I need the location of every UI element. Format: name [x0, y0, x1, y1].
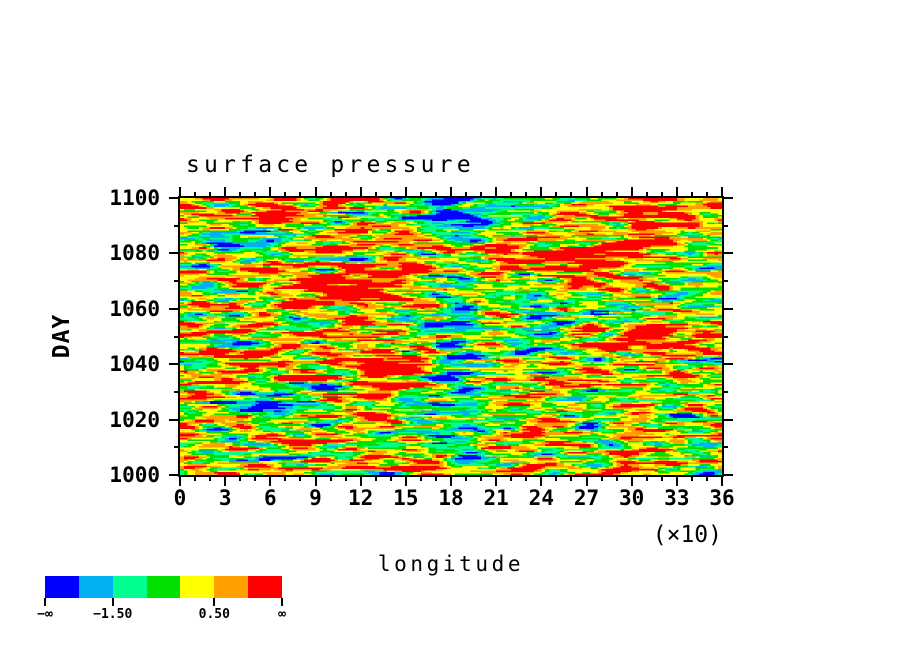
y-axis-minor-tick	[722, 446, 728, 448]
x-axis-tick	[631, 475, 633, 486]
x-axis-minor-tick	[299, 192, 301, 198]
colorbar-tick	[281, 598, 283, 606]
x-axis-minor-tick	[646, 475, 648, 481]
x-axis-minor-tick	[254, 192, 256, 198]
colorbar-tick-label: −1.50	[93, 607, 132, 622]
y-axis-minor-tick	[174, 225, 180, 227]
x-axis-minor-tick	[375, 192, 377, 198]
x-axis-tick	[676, 187, 678, 198]
x-axis-minor-tick	[691, 192, 693, 198]
x-tick-label: 33	[664, 486, 689, 510]
x-axis-minor-tick	[661, 192, 663, 198]
x-axis-minor-tick	[345, 475, 347, 481]
colorbar-band	[113, 576, 147, 598]
colorbar-tick-label: −∞	[37, 607, 53, 622]
figure-canvas: surface pressure 0369121518212427303336 …	[0, 0, 904, 654]
y-axis-tick	[169, 363, 180, 365]
x-tick-label: 27	[574, 486, 599, 510]
y-axis-tick	[169, 474, 180, 476]
x-axis-tick	[360, 187, 362, 198]
colorbar: −∞−1.500.50∞	[45, 576, 282, 598]
x-axis-minor-tick	[706, 475, 708, 481]
x-tick-label: 24	[529, 486, 554, 510]
heatmap-image	[180, 198, 722, 475]
x-axis-minor-tick	[284, 475, 286, 481]
y-axis-tick	[722, 474, 733, 476]
x-axis-tick	[450, 475, 452, 486]
x-axis-minor-tick	[706, 192, 708, 198]
y-tick-label: 1040	[109, 352, 160, 376]
x-axis-minor-tick	[661, 475, 663, 481]
x-axis-tick	[315, 187, 317, 198]
x-axis-minor-tick	[390, 192, 392, 198]
x-axis-minor-tick	[209, 192, 211, 198]
x-axis-tick	[269, 187, 271, 198]
x-axis-minor-tick	[209, 475, 211, 481]
x-axis-minor-tick	[616, 192, 618, 198]
x-axis-minor-tick	[330, 475, 332, 481]
x-axis-tick	[495, 187, 497, 198]
x-axis-minor-tick	[375, 475, 377, 481]
colorbar-tick	[44, 598, 46, 606]
x-axis-minor-tick	[525, 192, 527, 198]
colorbar-tick-label: 0.50	[199, 607, 230, 622]
y-axis-minor-tick	[722, 280, 728, 282]
x-axis-tick	[179, 475, 181, 486]
x-axis-tick	[360, 475, 362, 486]
x-tick-label: 30	[619, 486, 644, 510]
y-axis-tick	[169, 419, 180, 421]
x-axis-minor-tick	[420, 192, 422, 198]
x-axis-minor-tick	[555, 192, 557, 198]
y-axis-tick	[169, 197, 180, 199]
x-axis-minor-tick	[480, 192, 482, 198]
x-axis-minor-tick	[510, 192, 512, 198]
x-axis-tick	[721, 475, 723, 486]
x-axis-minor-tick	[601, 475, 603, 481]
y-tick-label: 1020	[109, 408, 160, 432]
x-axis-tick	[586, 475, 588, 486]
x-axis-minor-tick	[254, 475, 256, 481]
colorbar-band	[214, 576, 248, 598]
x-axis-tick	[405, 187, 407, 198]
x-axis-minor-tick	[299, 475, 301, 481]
x-axis-tick	[495, 475, 497, 486]
x-axis-tick	[676, 475, 678, 486]
y-tick-label: 1000	[109, 463, 160, 487]
x-axis-minor-tick	[646, 192, 648, 198]
plot-area: 0369121518212427303336 10001020104010601…	[180, 198, 722, 475]
y-axis-tick	[722, 363, 733, 365]
x-axis-minor-tick	[616, 475, 618, 481]
x-axis-minor-tick	[465, 475, 467, 481]
x-axis-minor-tick	[480, 475, 482, 481]
x-axis-minor-tick	[284, 192, 286, 198]
x-axis-tick	[540, 475, 542, 486]
x-axis-tick	[631, 187, 633, 198]
x-axis-title: longitude	[378, 552, 524, 576]
y-axis-minor-tick	[722, 336, 728, 338]
x-axis-minor-tick	[570, 475, 572, 481]
x-axis-tick	[450, 187, 452, 198]
colorbar-band	[45, 576, 79, 598]
x-axis-minor-tick	[570, 192, 572, 198]
colorbar-band	[180, 576, 214, 598]
x-tick-label: 9	[309, 486, 322, 510]
x-tick-label: 6	[264, 486, 277, 510]
colorbar-band	[147, 576, 181, 598]
x-axis-minor-tick	[390, 475, 392, 481]
x-tick-label: 18	[438, 486, 463, 510]
x-axis-minor-tick	[435, 192, 437, 198]
x-axis-minor-tick	[691, 475, 693, 481]
y-axis-minor-tick	[174, 391, 180, 393]
x-axis-minor-tick	[194, 475, 196, 481]
y-axis-tick	[722, 308, 733, 310]
x-axis-minor-tick	[525, 475, 527, 481]
x-axis-tick	[269, 475, 271, 486]
colorbar-tick	[112, 598, 114, 606]
x-axis-multiplier: (×10)	[653, 522, 722, 548]
y-axis-tick	[169, 308, 180, 310]
x-axis-minor-tick	[465, 192, 467, 198]
x-tick-label: 21	[484, 486, 509, 510]
y-tick-label: 1100	[109, 186, 160, 210]
colorbar-swatches	[45, 576, 282, 598]
y-axis-minor-tick	[722, 225, 728, 227]
colorbar-band	[248, 576, 282, 598]
y-axis-tick	[722, 252, 733, 254]
y-tick-label: 1080	[109, 241, 160, 265]
y-tick-label: 1060	[109, 297, 160, 321]
x-axis-tick	[540, 187, 542, 198]
y-axis-minor-tick	[722, 391, 728, 393]
y-axis-title: DAY	[49, 314, 75, 359]
x-axis-tick	[405, 475, 407, 486]
x-axis-tick	[224, 475, 226, 486]
x-axis-minor-tick	[330, 192, 332, 198]
y-axis-minor-tick	[174, 280, 180, 282]
x-axis-minor-tick	[345, 192, 347, 198]
x-axis-minor-tick	[194, 192, 196, 198]
x-tick-label: 12	[348, 486, 373, 510]
x-axis-minor-tick	[420, 475, 422, 481]
x-axis-tick	[586, 187, 588, 198]
x-tick-label: 15	[393, 486, 418, 510]
y-axis-tick	[722, 197, 733, 199]
y-axis-tick	[169, 252, 180, 254]
x-axis-minor-tick	[601, 192, 603, 198]
colorbar-band	[79, 576, 113, 598]
chart-title: surface pressure	[186, 152, 475, 178]
y-axis-tick	[722, 419, 733, 421]
x-axis-tick	[315, 475, 317, 486]
x-axis-minor-tick	[555, 475, 557, 481]
x-axis-minor-tick	[239, 192, 241, 198]
x-tick-label: 3	[219, 486, 232, 510]
x-axis-tick	[224, 187, 226, 198]
x-axis-minor-tick	[435, 475, 437, 481]
x-tick-label: 36	[709, 486, 734, 510]
colorbar-tick	[213, 598, 215, 606]
x-axis-minor-tick	[239, 475, 241, 481]
y-axis-minor-tick	[174, 336, 180, 338]
y-axis-minor-tick	[174, 446, 180, 448]
x-tick-label: 0	[174, 486, 187, 510]
colorbar-tick-label: ∞	[278, 607, 286, 622]
x-axis-minor-tick	[510, 475, 512, 481]
